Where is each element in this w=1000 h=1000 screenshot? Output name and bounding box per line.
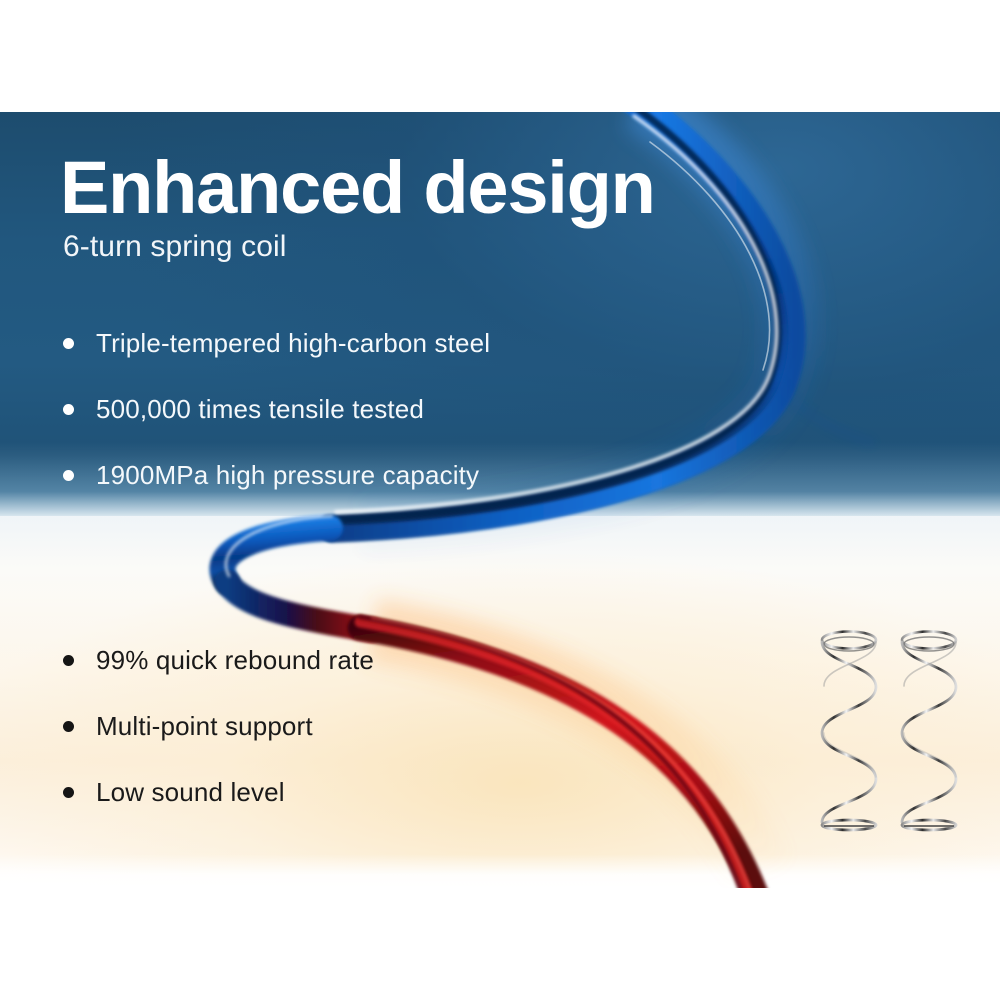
page-subtitle: 6-turn spring coil (63, 230, 287, 264)
bullet-dot-icon (63, 787, 74, 798)
spring-coil-icon (902, 632, 956, 831)
list-item-label: 99% quick rebound rate (96, 645, 374, 675)
feature-list-top: Triple-tempered high-carbon steel 500,00… (63, 310, 490, 508)
bullet-dot-icon (63, 470, 74, 481)
list-item: 99% quick rebound rate (63, 627, 374, 693)
bullet-dot-icon (63, 721, 74, 732)
page-title: Enhanced design (60, 148, 655, 228)
banner-panel: Enhanced design 6-turn spring coil Tripl… (0, 112, 1000, 888)
bullet-dot-icon (63, 338, 74, 349)
list-item-label: 500,000 times tensile tested (96, 394, 424, 424)
feature-list-bottom: 99% quick rebound rate Multi-point suppo… (63, 627, 374, 825)
list-item-label: Triple-tempered high-carbon steel (96, 328, 490, 358)
list-item-label: Multi-point support (96, 711, 313, 741)
list-item: Multi-point support (63, 693, 374, 759)
spring-coil-pair-icon (805, 617, 975, 852)
banner-image: Enhanced design 6-turn spring coil Tripl… (0, 0, 1000, 1000)
bullet-dot-icon (63, 404, 74, 415)
list-item-label: 1900MPa high pressure capacity (96, 460, 479, 490)
spring-coil-icon (822, 632, 876, 831)
list-item: Triple-tempered high-carbon steel (63, 310, 490, 376)
bullet-dot-icon (63, 655, 74, 666)
list-item: Low sound level (63, 759, 374, 825)
spring-coil-photos (805, 617, 975, 852)
list-item-label: Low sound level (96, 777, 285, 807)
list-item: 500,000 times tensile tested (63, 376, 490, 442)
list-item: 1900MPa high pressure capacity (63, 442, 490, 508)
